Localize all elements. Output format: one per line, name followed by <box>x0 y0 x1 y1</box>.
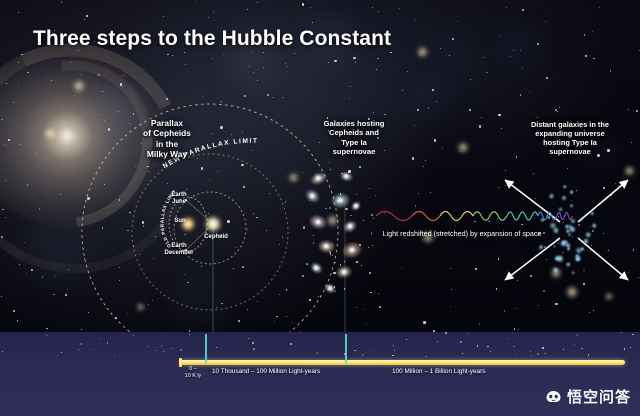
star <box>344 261 345 262</box>
star <box>531 355 532 356</box>
star <box>362 340 363 341</box>
star <box>392 355 394 357</box>
star <box>359 244 361 246</box>
star <box>576 334 578 336</box>
earth-dec-line: December <box>155 250 203 257</box>
star <box>592 230 594 232</box>
star <box>477 345 478 346</box>
star <box>460 341 461 342</box>
galaxy-core <box>344 174 347 177</box>
star <box>248 338 249 339</box>
sun-marker <box>181 217 195 231</box>
star <box>588 354 589 355</box>
galaxy-core <box>324 244 327 247</box>
left-panel-label: Parallax of Cepheids in the Milky Way <box>128 118 206 159</box>
star <box>46 335 47 336</box>
earth-dec-line: Earth <box>155 243 203 250</box>
star <box>100 338 102 340</box>
star <box>107 342 108 343</box>
new-parallax-limit-arc <box>82 104 338 360</box>
star <box>362 354 364 356</box>
star <box>180 349 182 351</box>
star <box>373 349 374 350</box>
star <box>61 352 62 353</box>
star <box>508 338 509 339</box>
star <box>356 194 357 195</box>
star <box>578 224 579 225</box>
star <box>542 347 543 348</box>
star <box>340 193 341 194</box>
galaxy <box>555 255 560 262</box>
star <box>306 263 308 265</box>
cepheid-line: Cepheid <box>198 234 234 241</box>
star <box>114 355 115 356</box>
star <box>596 253 597 254</box>
star <box>345 208 347 210</box>
star <box>406 339 407 340</box>
earth-june-label: Earth June <box>162 192 196 206</box>
star <box>563 349 564 350</box>
star <box>371 214 373 216</box>
star <box>574 344 575 345</box>
star <box>393 345 394 346</box>
star <box>425 356 427 358</box>
right-panel-label: Distant galaxies in the expanding univer… <box>512 120 628 156</box>
star <box>252 342 254 344</box>
star <box>41 339 42 340</box>
star <box>316 352 318 354</box>
star <box>133 334 135 336</box>
galaxy-core <box>328 286 331 289</box>
galaxy-core <box>338 198 341 201</box>
right-label-line: hosting Type Ia <box>512 138 628 147</box>
left-label-line: in the <box>128 139 206 149</box>
inner-parallax-ring <box>132 154 288 310</box>
watermark: 悟空问答 <box>545 386 631 407</box>
watermark-text: 悟空问答 <box>567 386 631 407</box>
scale-divider-2 <box>345 334 347 364</box>
star <box>603 233 604 234</box>
galaxy-core <box>316 176 319 179</box>
redshift-caption: Light redshifted (stretched) by expansio… <box>374 229 550 238</box>
star <box>309 299 311 301</box>
scale-segment-far-label: 100 Million – 1 Billion Light-years <box>392 368 485 375</box>
right-label-line: Distant galaxies in the <box>512 120 628 129</box>
star <box>156 350 157 351</box>
star <box>576 190 577 191</box>
star <box>80 343 82 345</box>
scale-divider-1 <box>205 334 207 364</box>
star <box>487 346 489 348</box>
star <box>354 350 356 352</box>
star <box>544 353 546 355</box>
star <box>93 349 94 350</box>
star <box>632 334 634 336</box>
star <box>302 172 303 173</box>
earth-june-marker <box>185 199 187 201</box>
star <box>348 170 350 172</box>
left-label-line: Milky Way <box>128 149 206 159</box>
earth-december-marker <box>185 249 187 251</box>
star <box>253 348 255 350</box>
star <box>302 275 304 277</box>
mid-label-line: Galaxies hosting <box>306 119 402 128</box>
earth-june-line: June <box>162 199 196 206</box>
star <box>334 286 335 287</box>
star <box>516 354 517 355</box>
star <box>621 332 622 333</box>
galaxy-core <box>354 204 357 207</box>
star <box>189 334 190 335</box>
star <box>318 296 319 297</box>
star <box>171 348 172 349</box>
star <box>361 265 362 266</box>
mid-label-line: Type Ia <box>306 138 402 147</box>
galaxy <box>591 223 597 229</box>
band-starfield <box>0 332 640 358</box>
galaxy <box>553 226 559 234</box>
left-label-line: of Cepheids <box>128 128 206 138</box>
star <box>2 351 3 352</box>
star <box>329 251 331 253</box>
middle-panel-label: Galaxies hosting Cepheids and Type Ia su… <box>306 119 402 156</box>
earth-december-label: Earth December <box>155 243 203 257</box>
distance-scale-bar <box>180 360 625 365</box>
star <box>78 349 79 350</box>
star <box>513 346 515 348</box>
star <box>590 250 591 251</box>
mid-label-line: Cepheids and <box>306 128 402 137</box>
mid-label-line: supernovae <box>306 147 402 156</box>
star <box>624 348 625 349</box>
star <box>356 261 358 263</box>
wukong-logo-icon <box>545 390 562 403</box>
star <box>490 351 492 353</box>
star <box>57 355 58 356</box>
cepheid-label: Cepheid <box>198 234 234 241</box>
star <box>369 272 371 274</box>
star <box>468 333 469 334</box>
galaxy-core <box>314 266 317 269</box>
star <box>372 245 373 246</box>
galaxy-core <box>350 248 353 251</box>
star <box>581 348 583 350</box>
galaxy <box>560 194 567 201</box>
star <box>462 353 463 354</box>
scale-origin-label: 0 – 10 K ly <box>176 366 210 381</box>
cepheid-marker <box>205 216 221 232</box>
star <box>530 351 531 352</box>
star <box>163 351 164 352</box>
right-label-line: supernovae <box>512 147 628 156</box>
galaxy-core <box>348 224 351 227</box>
right-label-line: expanding universe <box>512 129 628 138</box>
star <box>290 343 292 345</box>
galaxy-core <box>316 220 319 223</box>
galaxy-core <box>342 270 345 273</box>
galaxy-core <box>310 194 313 197</box>
earth-june-line: Earth <box>162 192 196 199</box>
star <box>394 349 396 351</box>
scale-origin-line: 10 K ly <box>176 373 210 380</box>
star <box>537 353 539 355</box>
star <box>335 291 336 292</box>
scale-segment-near-label: 10 Thousand – 100 Million Light-years <box>212 368 320 375</box>
infographic-root: Three steps to the Hubble Constant NEW P… <box>0 0 640 416</box>
star <box>546 259 547 260</box>
star <box>161 345 163 347</box>
star <box>216 347 217 348</box>
star <box>437 341 438 342</box>
star <box>563 222 564 223</box>
star <box>445 332 447 334</box>
star <box>369 188 370 189</box>
star <box>148 346 149 347</box>
star <box>630 347 631 348</box>
star <box>313 235 314 236</box>
left-label-line: Parallax <box>128 118 206 128</box>
